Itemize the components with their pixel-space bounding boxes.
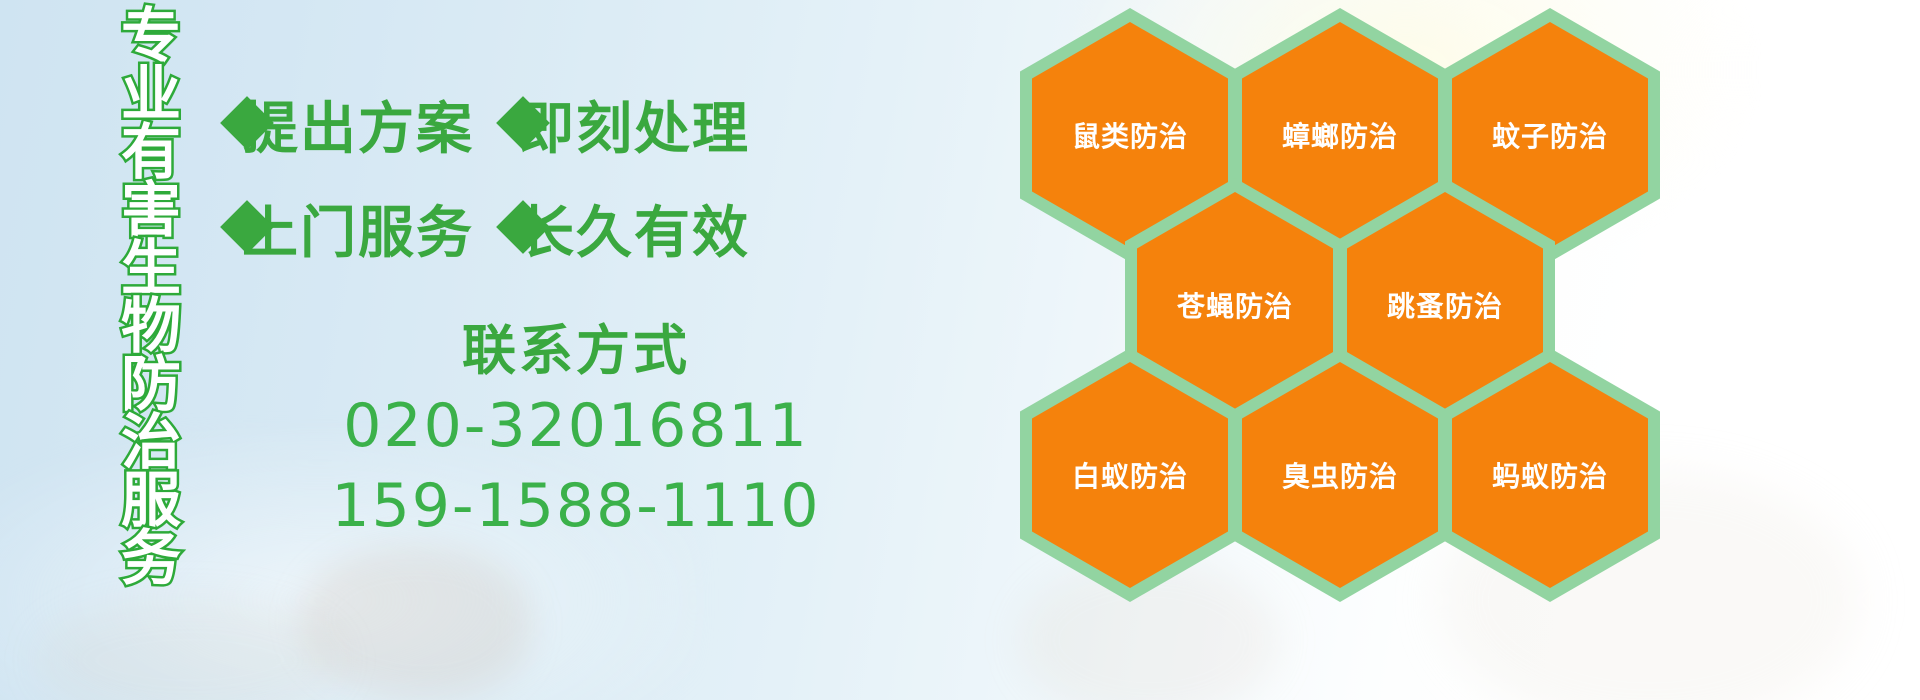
feature-row: 提出方案 即刻处理 bbox=[228, 78, 888, 182]
hex-label: 蚊子防治 bbox=[1492, 115, 1608, 155]
hex-label: 鼠类防治 bbox=[1072, 115, 1188, 155]
hex-label: 白蚁防治 bbox=[1072, 455, 1188, 495]
hex-label: 蟑螂防治 bbox=[1282, 115, 1398, 155]
vertical-headline-char: 专 bbox=[121, 8, 181, 66]
feature-label: 上门服务 bbox=[242, 204, 474, 264]
vertical-headline-char: 生 bbox=[121, 240, 181, 298]
contact-block: 联系方式 020-32016811 159-1588-1110 bbox=[316, 316, 836, 546]
vertical-headline-char: 防 bbox=[121, 356, 181, 414]
hex-label: 蚂蚁防治 bbox=[1492, 455, 1608, 495]
vertical-headline-char: 物 bbox=[121, 298, 181, 356]
pest-control-banner: 专 业 有 害 生 物 防 治 服 务 提出方案 即刻处理 上门服务 bbox=[0, 0, 1920, 700]
feature-item-long-lasting: 长久有效 bbox=[504, 204, 750, 264]
service-honeycomb: 鼠类防治 蟑螂防治 蚊子防治 苍蝇防治 跳蚤防治 白蚁防治 bbox=[1040, 0, 1800, 700]
feature-item-immediate-handling: 即刻处理 bbox=[504, 100, 750, 160]
contact-phone-landline[interactable]: 020-32016811 bbox=[316, 386, 836, 466]
feature-label: 长久有效 bbox=[518, 204, 750, 264]
hex-inner: 蚂蚁防治 bbox=[1452, 362, 1648, 588]
vertical-headline-char: 业 bbox=[121, 66, 181, 124]
feature-row: 上门服务 长久有效 bbox=[228, 182, 888, 286]
hex-label: 臭虫防治 bbox=[1282, 455, 1398, 495]
hex-inner: 白蚁防治 bbox=[1032, 362, 1228, 588]
vertical-headline-char: 害 bbox=[121, 182, 181, 240]
hex-inner: 臭虫防治 bbox=[1242, 362, 1438, 588]
vertical-headline-char: 有 bbox=[121, 124, 181, 182]
vertical-headline-char: 治 bbox=[121, 414, 181, 472]
hex-label: 苍蝇防治 bbox=[1177, 285, 1293, 325]
feature-item-propose-plan: 提出方案 bbox=[228, 100, 474, 160]
feature-list: 提出方案 即刻处理 上门服务 长久有效 bbox=[228, 78, 888, 286]
feature-label: 即刻处理 bbox=[518, 100, 750, 160]
vertical-headline-char: 服 bbox=[121, 472, 181, 530]
vertical-headline-char: 务 bbox=[121, 530, 181, 588]
hex-label: 跳蚤防治 bbox=[1387, 285, 1503, 325]
contact-title: 联系方式 bbox=[316, 316, 836, 386]
vertical-headline: 专 业 有 害 生 物 防 治 服 务 bbox=[108, 8, 194, 592]
feature-item-door-service: 上门服务 bbox=[228, 204, 474, 264]
feature-label: 提出方案 bbox=[242, 100, 474, 160]
contact-phone-mobile[interactable]: 159-1588-1110 bbox=[316, 466, 836, 546]
